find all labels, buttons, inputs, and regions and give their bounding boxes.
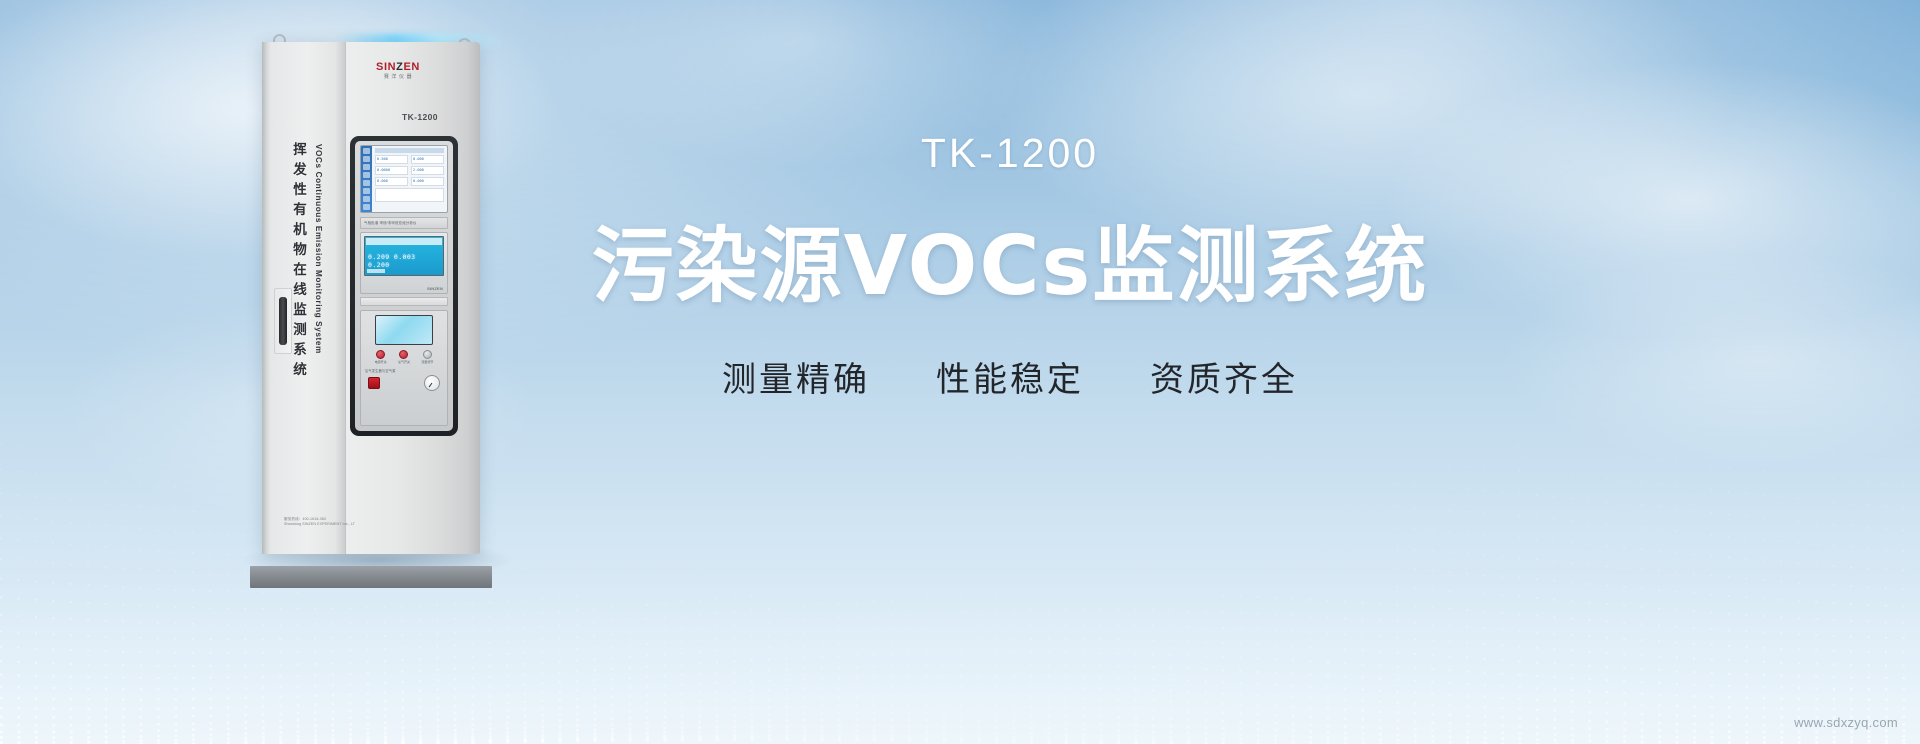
feature-item: 性能稳定 — [936, 352, 1084, 401]
site-watermark: www.sdxzyq.com — [1794, 715, 1898, 730]
feature-list: 测量精确 性能稳定 资质齐全 — [560, 352, 1460, 401]
knob-label: 流量调节 — [421, 360, 433, 364]
knob-icon — [376, 350, 385, 359]
hmi-readout-cell: 0.500 — [375, 155, 408, 164]
hero-banner: SINZEN 赛 洋 仪 器 TK-1200 挥发性有机物在线监测系统 VOCs… — [0, 0, 1920, 744]
cabinet-model-label: TK-1200 — [402, 112, 438, 122]
hmi-readout-value: 0.000 — [413, 157, 424, 161]
cabinet-vertical-english-text: VOCs Continuous Emission Monitoring Syst… — [314, 144, 323, 354]
power-switch-knob[interactable]: 电源开关 — [375, 350, 387, 364]
hmi-chart-area — [375, 188, 444, 202]
brand-subtext: 赛 洋 仪 器 — [366, 75, 430, 80]
hmi-sidebar — [361, 146, 372, 212]
lcd-footer-bar — [367, 269, 385, 273]
control-section-label: 氢气发生器与空气源 — [365, 368, 443, 373]
instrument-bay-inner: 0.500 0.000 0.0000 2.000 0.000 0.000 气相色… — [355, 141, 453, 431]
analyzer-lcd-value: 0.209 0.003 0.200 — [368, 253, 440, 269]
hmi-readout-grid: 0.500 0.000 0.0000 2.000 0.000 0.000 — [375, 155, 444, 186]
cabinet-body: SINZEN 赛 洋 仪 器 TK-1200 挥发性有机物在线监测系统 VOCs… — [262, 42, 480, 554]
analyzer-cabinet: SINZEN 赛 洋 仪 器 TK-1200 挥发性有机物在线监测系统 VOCs… — [262, 24, 492, 570]
company-legal-name: Shandong SINZEN EXPERIMENT Inc., LT — [284, 522, 424, 528]
brand-wordmark: SINZEN — [366, 62, 430, 73]
knob-icon — [399, 350, 408, 359]
emergency-stop-button[interactable] — [368, 377, 380, 389]
cabinet-brand-logo: SINZEN 赛 洋 仪 器 — [366, 62, 430, 80]
knob-label: 电源开关 — [375, 360, 387, 364]
hmi-readout-cell: 0.000 — [411, 177, 444, 186]
knob-icon — [423, 350, 432, 359]
analyzer-brand-label: SINZEN — [427, 286, 443, 291]
hmi-readout-value: 2.000 — [413, 168, 424, 172]
feature-item: 测量精确 — [722, 352, 870, 401]
hmi-readout-cell: 0.000 — [375, 177, 408, 186]
hmi-touchscreen[interactable]: 0.500 0.000 0.0000 2.000 0.000 0.000 — [360, 145, 448, 213]
control-touchscreen[interactable] — [375, 315, 433, 345]
instrument-bay: 0.500 0.000 0.0000 2.000 0.000 0.000 气相色… — [350, 136, 458, 436]
hmi-readout-value: 0.0000 — [377, 168, 390, 172]
control-bottom-row — [365, 375, 443, 391]
analyzer-lcd-display: 0.209 0.003 0.200 — [364, 236, 444, 276]
hmi-titlebar — [375, 148, 444, 153]
hmi-content: 0.500 0.000 0.0000 2.000 0.000 0.000 — [372, 146, 447, 212]
feature-item: 资质齐全 — [1150, 352, 1298, 401]
gc-analyzer-module: 0.209 0.003 0.200 SINZEN — [360, 232, 448, 294]
hero-copy: TK-1200 污染源VOCs监测系统 测量精确 性能稳定 资质齐全 — [560, 130, 1460, 401]
hmi-readout-cell: 0.0000 — [375, 166, 408, 175]
pressure-gauge-icon — [424, 375, 440, 391]
analyzer-module-label: 气相色谱 甲烷/非甲烷总烃分析仪 — [360, 217, 448, 229]
control-knob-row: 电源开关 氢气开关 流量调节 — [365, 350, 443, 364]
blank-module-slot — [360, 297, 448, 306]
cabinet-vertical-chinese-text: 挥发性有机物在线监测系统 — [288, 142, 308, 382]
knob-label: 氢气开关 — [398, 360, 410, 364]
cabinet-plinth — [250, 566, 492, 588]
hmi-readout-value: 0.000 — [377, 179, 388, 183]
hydrogen-switch-knob[interactable]: 氢气开关 — [398, 350, 410, 364]
brand-wordmark-left: SIN — [376, 61, 396, 73]
hero-model-number: TK-1200 — [560, 130, 1460, 177]
control-panel: 电源开关 氢气开关 流量调节 氢气发生器与空气源 — [360, 310, 448, 426]
flow-adjust-knob[interactable]: 流量调节 — [421, 350, 433, 364]
hmi-readout-value: 0.000 — [413, 179, 424, 183]
service-info-label: 服务热线：400-1616-360 Shandong SINZEN EXPERI… — [284, 517, 424, 528]
hmi-readout-value: 0.500 — [377, 157, 388, 161]
page-title: 污染源VOCs监测系统 — [560, 199, 1460, 318]
hmi-readout-cell: 0.000 — [411, 155, 444, 164]
hmi-readout-cell: 2.000 — [411, 166, 444, 175]
brand-wordmark-right: EN — [403, 61, 419, 73]
lcd-header-bar — [366, 238, 442, 245]
door-edge — [262, 42, 270, 554]
